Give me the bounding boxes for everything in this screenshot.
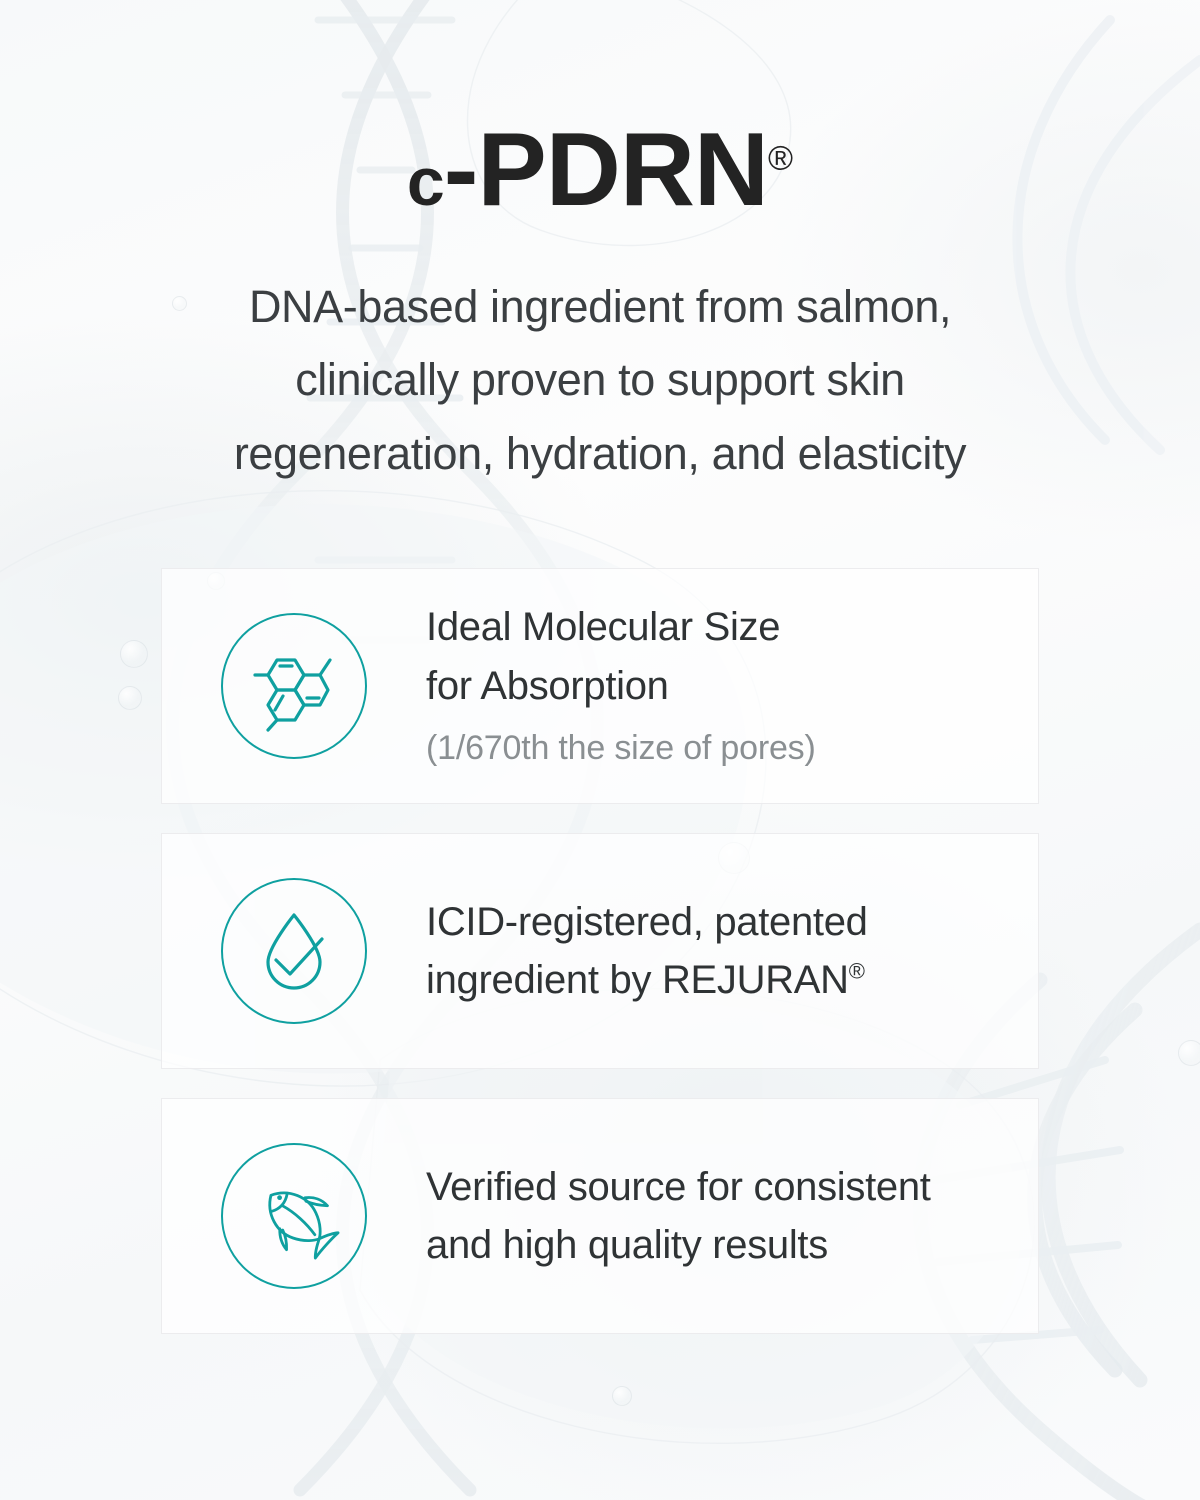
feature-card-text: ICID-registered, patented ingredient by … (426, 893, 1038, 1010)
brand-main: -PDRN (444, 112, 768, 228)
feature-card-verified-source: Verified source for consistent and high … (161, 1098, 1039, 1334)
fish-icon (221, 1143, 367, 1289)
feature-title-line: and high quality results (426, 1216, 1012, 1274)
feature-title-text: ingredient by REJURAN (426, 958, 849, 1002)
feature-icon-container (162, 613, 426, 759)
subtitle-line: DNA-based ingredient from salmon, (150, 270, 1050, 343)
page-content: c-PDRN® DNA-based ingredient from salmon… (0, 0, 1200, 1334)
page-title: c-PDRN® (0, 0, 1200, 222)
feature-icon-container (162, 878, 426, 1024)
feature-card-list: Ideal Molecular Size for Absorption (1/6… (161, 568, 1039, 1334)
subtitle-line: regeneration, hydration, and elasticity (150, 417, 1050, 490)
feature-title-line: ingredient by REJURAN® (426, 951, 1012, 1009)
feature-title-line: for Absorption (426, 657, 1012, 715)
feature-title-line: Ideal Molecular Size (426, 598, 1012, 656)
feature-subnote: (1/670th the size of pores) (426, 723, 1012, 774)
molecule-icon (221, 613, 367, 759)
subtitle-line: clinically proven to support skin (150, 343, 1050, 416)
feature-card-text: Ideal Molecular Size for Absorption (1/6… (426, 598, 1038, 774)
registered-trademark-icon: ® (768, 139, 793, 177)
feature-card-icid-registered: ICID-registered, patented ingredient by … (161, 833, 1039, 1069)
bubble-decoration (612, 1386, 632, 1406)
feature-card-molecular-size: Ideal Molecular Size for Absorption (1/6… (161, 568, 1039, 804)
feature-title-line: ICID-registered, patented (426, 893, 1012, 951)
brand-lead: c (407, 144, 444, 220)
feature-icon-container (162, 1143, 426, 1289)
feature-title-line: Verified source for consistent (426, 1158, 1012, 1216)
registered-trademark-icon: ® (849, 959, 865, 984)
page-subtitle: DNA-based ingredient from salmon, clinic… (150, 270, 1050, 490)
feature-card-text: Verified source for consistent and high … (426, 1158, 1038, 1275)
droplet-check-icon (221, 878, 367, 1024)
